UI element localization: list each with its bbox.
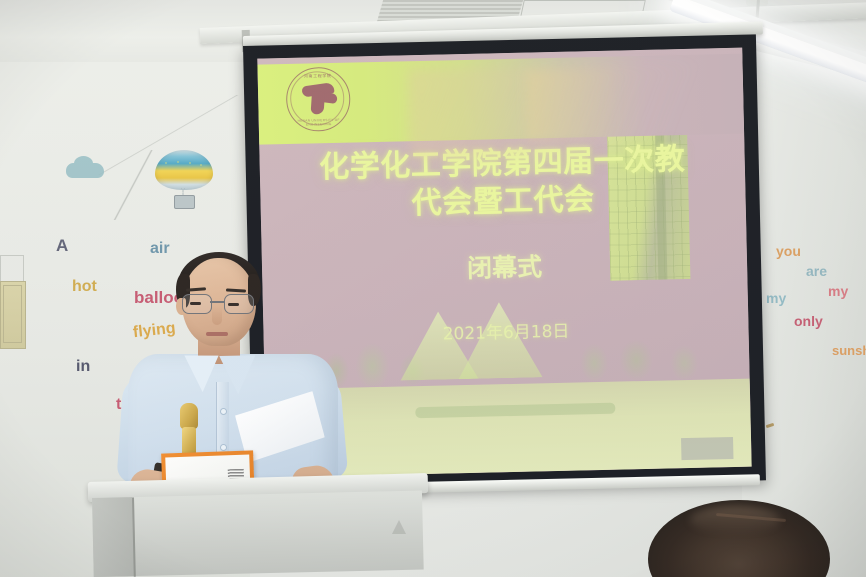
- hot-air-balloon-icon: [155, 150, 213, 202]
- nose: [212, 306, 222, 325]
- microphone-head: [180, 403, 198, 429]
- wall-decal-word: only: [794, 313, 823, 329]
- eye-left: [190, 302, 201, 305]
- wall-decal-word: in: [76, 358, 90, 376]
- photo-scene: A air hot balloon flying in the you are …: [0, 0, 866, 577]
- shirt-button: [220, 408, 227, 415]
- logo-wing: [322, 92, 338, 104]
- wall-decal-word: my: [828, 283, 848, 299]
- wall-decal-word: sunshine: [832, 343, 866, 358]
- cloud-decal-icon: [66, 163, 104, 178]
- glasses-bridge: [210, 301, 224, 303]
- eye-right: [228, 303, 239, 306]
- wall-switch-box[interactable]: [0, 281, 26, 349]
- wall-decal-word: are: [806, 263, 827, 279]
- wall-decal-word: my: [766, 290, 786, 306]
- shirt-button: [220, 444, 227, 451]
- logo-glyph-icon: [300, 82, 337, 117]
- logo-top-text: 河南工程学院: [287, 73, 349, 80]
- wall-decal-word: air: [150, 240, 170, 258]
- balloon-basket: [174, 195, 195, 209]
- wall-box-inner: [3, 285, 22, 343]
- wall-decal-word: you: [776, 243, 801, 259]
- lectern: [92, 491, 424, 577]
- lectern-side-panel: [92, 497, 136, 577]
- mouth: [206, 332, 228, 336]
- wall-decal-word: hot: [72, 278, 97, 296]
- wall-decal-word: A: [56, 236, 68, 256]
- balloon-dots: [161, 159, 207, 173]
- slide-corner-chip: [681, 437, 733, 460]
- screen-glare-hotspot: [526, 69, 618, 141]
- university-logo-icon: 河南工程学院 HENAN UNIVERSITY OF ENGINEERING: [286, 67, 351, 132]
- logo-bottom-text: HENAN UNIVERSITY OF ENGINEERING: [288, 118, 350, 127]
